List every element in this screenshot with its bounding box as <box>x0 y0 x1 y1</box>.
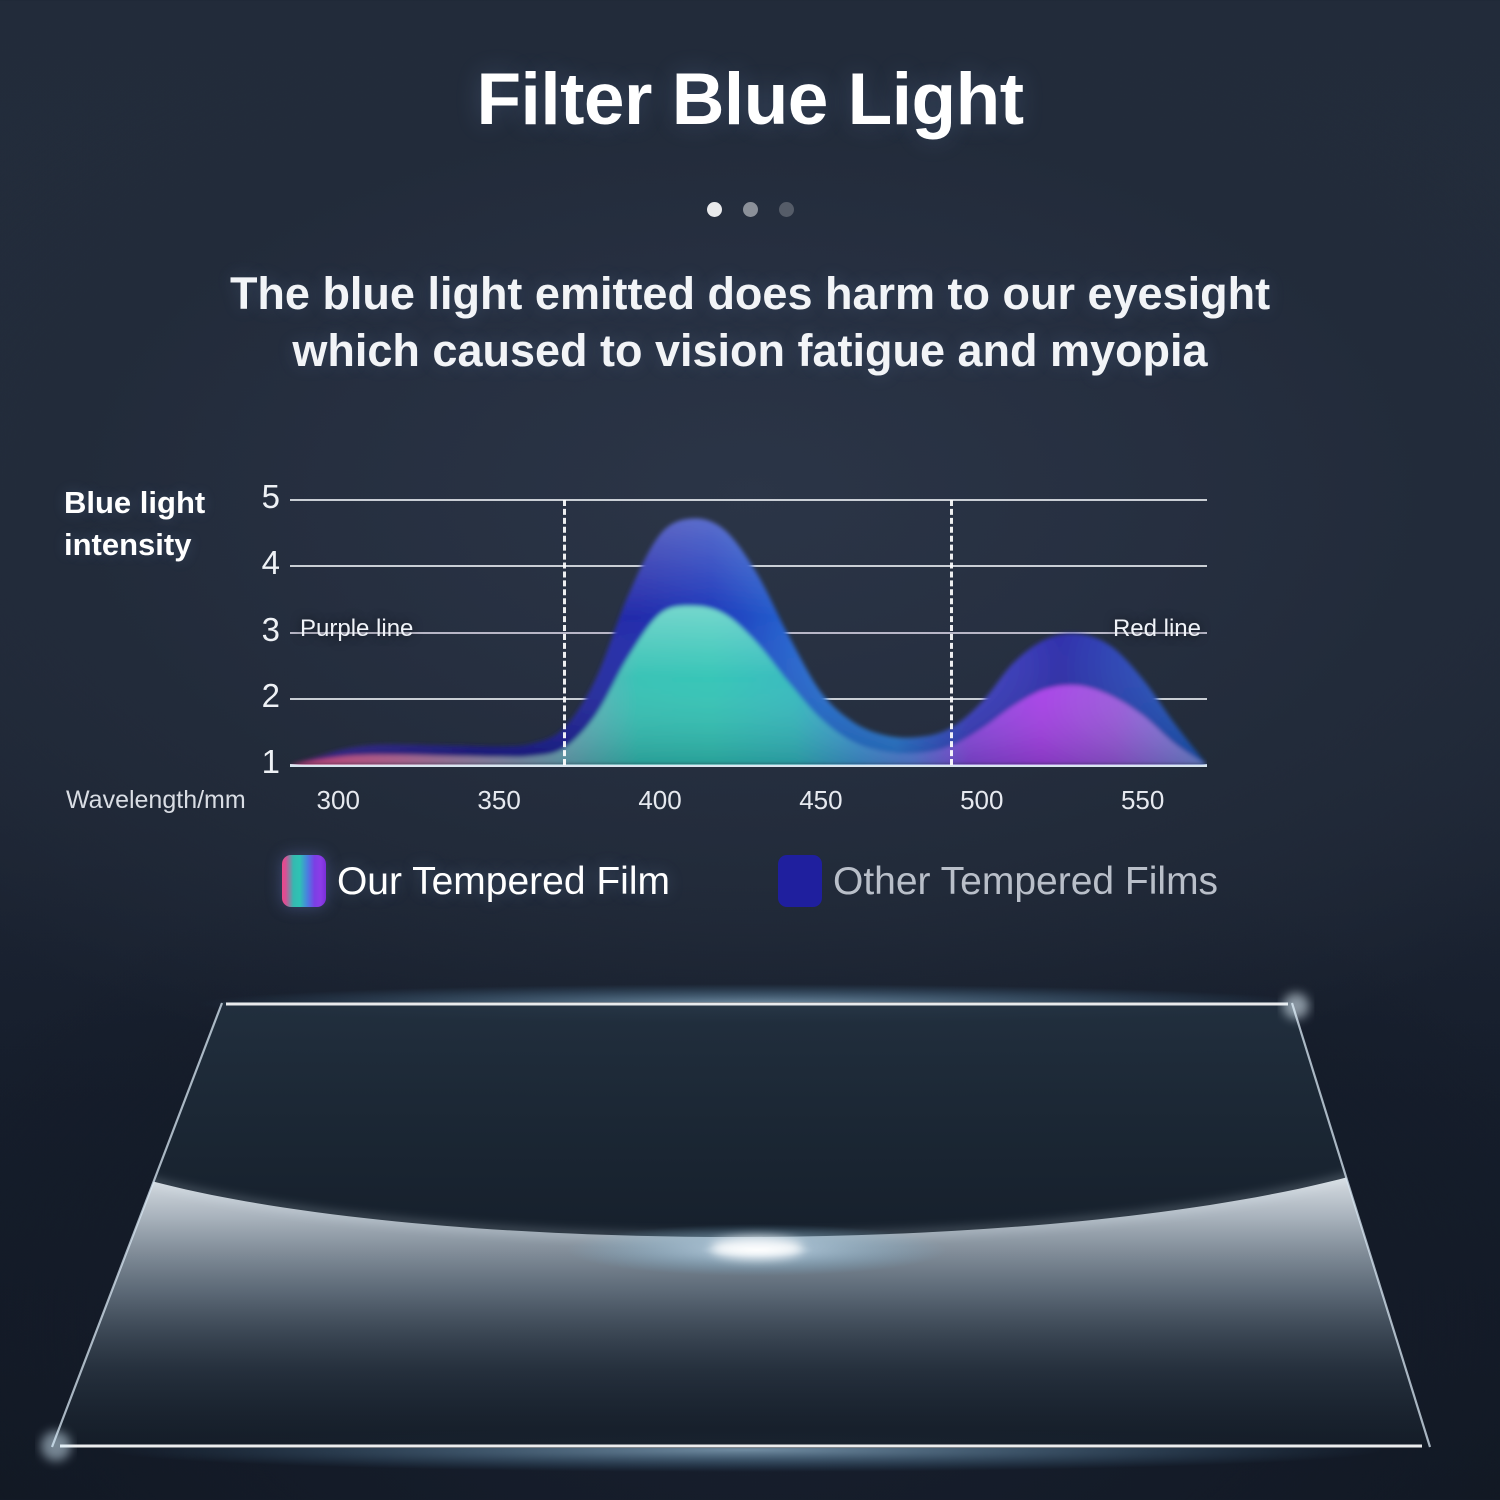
y-tick-2: 2 <box>240 679 280 712</box>
glass-corner-sparkle-bl <box>41 1431 71 1461</box>
x-tick-500: 500 <box>960 785 1003 816</box>
glass-corner-sparkle-tr <box>1283 993 1309 1019</box>
y-tick-5: 5 <box>240 480 280 513</box>
x-tick-450: 450 <box>799 785 842 816</box>
pagination-dot-3[interactable] <box>779 202 794 217</box>
y-tick-4: 4 <box>240 546 280 579</box>
promo-page: Filter Blue Light The blue light emitted… <box>0 0 1500 1500</box>
y-axis-ticks: 5 4 3 2 1 <box>232 455 280 775</box>
product-image-tempered-glass <box>0 960 1500 1500</box>
subtitle-line-1: The blue light emitted does harm to our … <box>0 266 1500 323</box>
x-tick-400: 400 <box>638 785 681 816</box>
vertical-marker-490 <box>950 500 953 765</box>
subtitle: The blue light emitted does harm to our … <box>0 266 1500 379</box>
plot-area: Purple line Red line <box>290 500 1207 765</box>
glass-svg <box>0 960 1500 1500</box>
legend-swatch-solid-icon <box>778 855 822 907</box>
curve-chart-svg <box>290 500 1207 765</box>
y-tick-1: 1 <box>240 745 280 778</box>
pagination-dot-1[interactable] <box>707 202 722 217</box>
annotation-purple-line: Purple line <box>300 615 413 643</box>
annotation-red-line: Red line <box>1113 615 1201 643</box>
glass-hotspot-core <box>711 1237 803 1259</box>
pagination-dot-2[interactable] <box>743 202 758 217</box>
legend-label-others: Other Tempered Films <box>833 862 1218 901</box>
x-tick-550: 550 <box>1121 785 1164 816</box>
legend-label-ours: Our Tempered Film <box>337 862 670 901</box>
vertical-marker-370 <box>563 500 566 765</box>
pagination-dots[interactable] <box>0 202 1500 217</box>
page-title: Filter Blue Light <box>0 58 1500 141</box>
chart-legend: Our Tempered Film Other Tempered Films <box>0 855 1500 907</box>
legend-item-other-tempered-films[interactable]: Other Tempered Films <box>778 855 1218 907</box>
x-tick-300: 300 <box>317 785 360 816</box>
subtitle-line-2: which caused to vision fatigue and myopi… <box>0 323 1500 380</box>
y-tick-3: 3 <box>240 613 280 646</box>
x-axis-title: Wavelength/mm <box>66 786 246 815</box>
legend-swatch-gradient-icon <box>282 855 326 907</box>
legend-item-our-tempered-film[interactable]: Our Tempered Film <box>282 855 670 907</box>
x-tick-350: 350 <box>477 785 520 816</box>
